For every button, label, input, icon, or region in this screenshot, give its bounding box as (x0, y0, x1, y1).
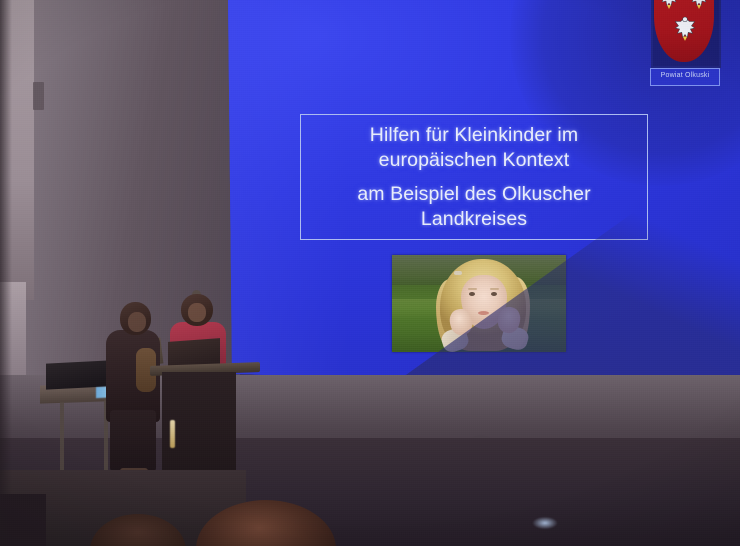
eagle-icon (658, 0, 680, 10)
left-edge-shadow (0, 0, 12, 546)
table-leg (60, 402, 64, 478)
presenter-right-face (188, 303, 206, 322)
wall-socket (33, 82, 44, 110)
projection-screen: Powiat Olkuski Hilfen für Kleinkinder im… (228, 0, 740, 392)
coat-of-arms: Powiat Olkuski (651, 0, 733, 92)
eagle-icon (673, 14, 697, 42)
presenter-left-skirt (110, 410, 156, 472)
crest-caption: Powiat Olkuski (650, 68, 720, 86)
lectern-lamp (170, 420, 175, 448)
presentation-photograph: Powiat Olkuski Hilfen für Kleinkinder im… (0, 0, 740, 546)
audience-reflection (528, 516, 562, 530)
eagle-icon (688, 0, 710, 10)
presenter-left-face (128, 312, 146, 332)
title-line-4: Landkreises (421, 207, 527, 232)
title-line-1: Hilfen für Kleinkinder im (370, 123, 578, 148)
laptop (46, 360, 110, 389)
slide-title-box: Hilfen für Kleinkinder im europäischen K… (300, 114, 648, 240)
title-line-2: europäischen Kontext (379, 148, 570, 173)
title-line-3: am Beispiel des Olkuscher (357, 182, 590, 207)
